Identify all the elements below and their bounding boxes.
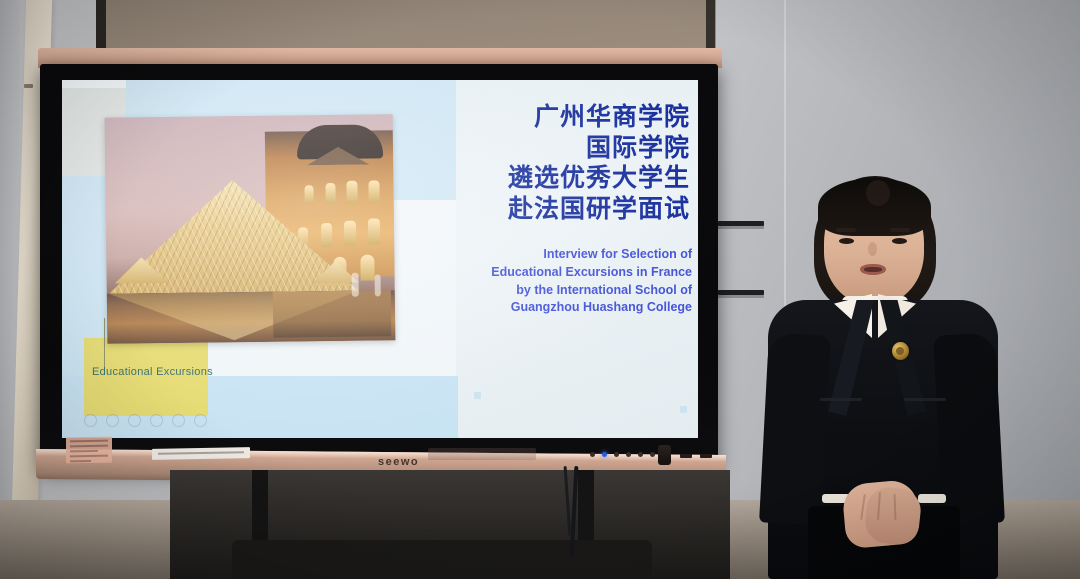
port-slot[interactable] xyxy=(700,454,712,458)
toolbar-icon[interactable] xyxy=(106,414,119,427)
control-button[interactable] xyxy=(590,452,595,457)
slide-subtitle-line: Educational Excursions in France xyxy=(448,264,692,282)
screenshot-scene: Educational Excursions 广州华商学院 国际学院 遴选优秀大… xyxy=(0,0,1080,579)
presenter xyxy=(762,176,1012,579)
wall-rail-lower-shadow xyxy=(718,295,764,298)
photo-window xyxy=(321,223,332,247)
slide-subtitle-line: by the International School of xyxy=(448,282,692,300)
hair-part xyxy=(866,180,890,206)
asset-tag-sticker xyxy=(66,437,112,464)
power-button[interactable] xyxy=(658,445,671,465)
toolbar-icon[interactable] xyxy=(194,414,207,427)
eye-left xyxy=(839,238,854,244)
power-led-indicator xyxy=(602,452,607,457)
photo-figure xyxy=(352,273,359,297)
photo-window xyxy=(344,221,356,246)
ir-sensor-bar xyxy=(428,448,536,460)
louvre-pyramid-photo xyxy=(105,114,396,344)
interactive-flat-panel[interactable]: Educational Excursions 广州华商学院 国际学院 遴选优秀大… xyxy=(32,48,722,480)
control-button[interactable] xyxy=(614,452,619,457)
slide-title-line: 国际学院 xyxy=(462,133,690,164)
eyebrow-right xyxy=(890,228,910,232)
slide-title-line: 广州华商学院 xyxy=(462,102,690,133)
photo-arch xyxy=(360,254,374,280)
presentation-slide: Educational Excursions 广州华商学院 国际学院 遴选优秀大… xyxy=(62,80,698,438)
toolbar-icon[interactable] xyxy=(150,414,163,427)
slide-subtitle-line: Interview for Selection of xyxy=(448,246,692,264)
slide-toolbar-icons[interactable] xyxy=(84,414,207,427)
slide-subtitle-line: Guangzhou Huashang College xyxy=(448,299,692,317)
seewo-brand-logo: seewo xyxy=(378,456,419,468)
display-screen[interactable]: Educational Excursions 广州华商学院 国际学院 遴选优秀大… xyxy=(62,80,698,438)
toolbar-icon[interactable] xyxy=(128,414,141,427)
photo-palace-reflection xyxy=(273,290,392,337)
eyebrow-left xyxy=(836,228,856,232)
photo-window xyxy=(368,180,379,202)
slide-accent-square xyxy=(680,406,687,413)
port-slot[interactable] xyxy=(680,454,692,458)
toolbar-icon[interactable] xyxy=(84,414,97,427)
display-control-buttons[interactable] xyxy=(590,452,667,457)
slide-title-line: 遴选优秀大学生 xyxy=(462,163,690,194)
inventory-label xyxy=(152,447,250,460)
toolbar-icon[interactable] xyxy=(172,414,185,427)
cuff-right xyxy=(918,494,946,503)
pocket-flap-left xyxy=(820,398,862,401)
control-button[interactable] xyxy=(638,452,643,457)
control-button[interactable] xyxy=(626,452,631,457)
pocket-flap-right xyxy=(904,398,946,401)
slide-title-line: 赴法国研学面试 xyxy=(462,194,690,225)
photo-figure xyxy=(375,274,381,296)
eye-right xyxy=(892,238,907,244)
photo-window xyxy=(346,181,357,203)
control-button[interactable] xyxy=(650,452,655,457)
stand-base xyxy=(232,540,652,579)
mouth-opening xyxy=(864,267,882,272)
wall-rail-upper-shadow xyxy=(718,226,764,229)
arm-left xyxy=(759,333,831,526)
slide-title-block: 广州华商学院 国际学院 遴选优秀大学生 赴法国研学面试 xyxy=(462,102,690,224)
photo-window xyxy=(325,183,335,203)
slide-subtitle-block: Interview for Selection of Educational E… xyxy=(448,246,692,317)
slide-caption: Educational Excursions xyxy=(92,366,213,378)
photo-window xyxy=(368,218,380,244)
slide-accent-square xyxy=(474,392,481,399)
photo-window xyxy=(304,185,313,203)
lapel-badge-pin xyxy=(892,342,909,360)
nose xyxy=(868,242,877,256)
